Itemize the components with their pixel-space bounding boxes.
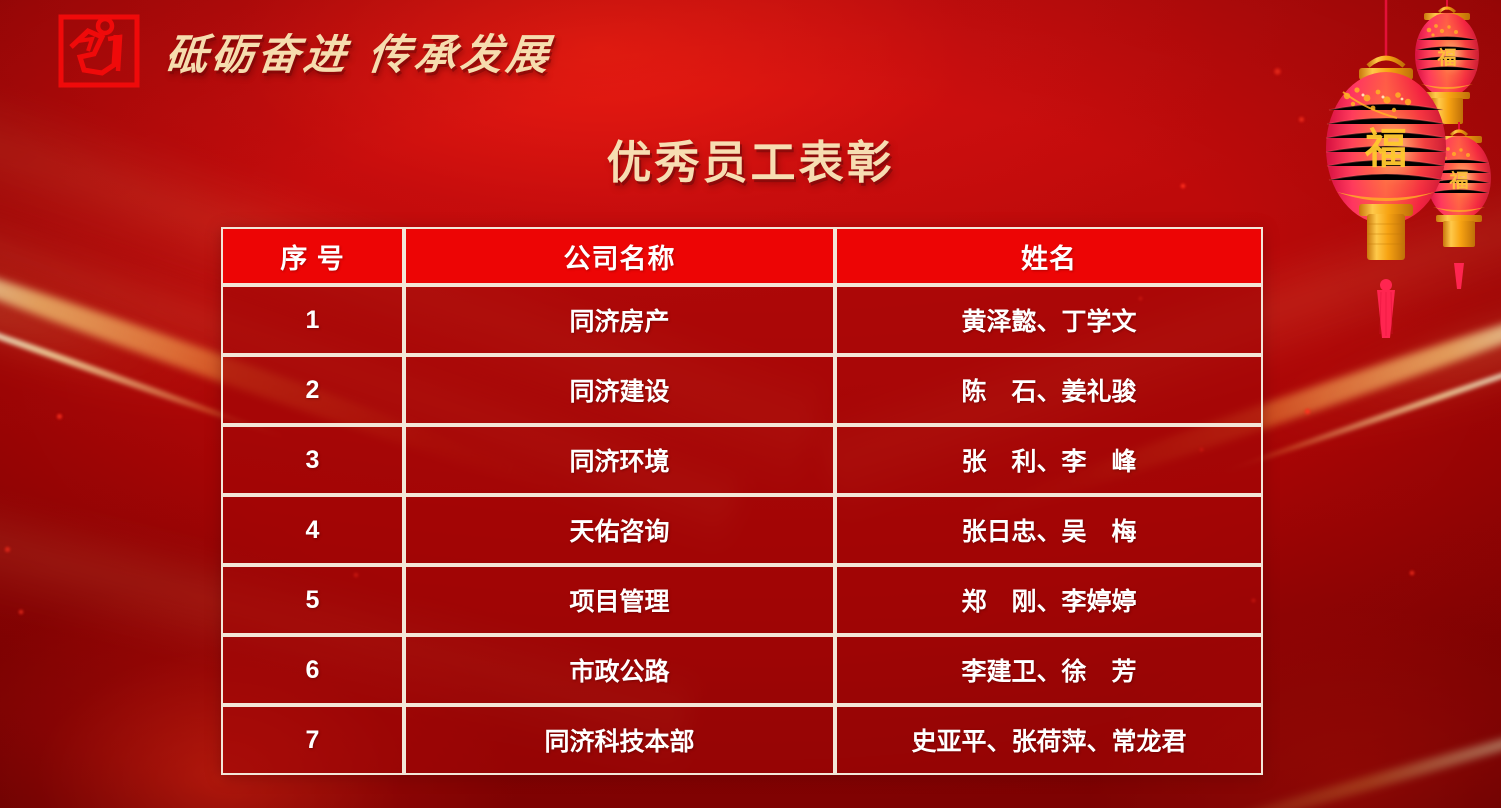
- table-body: 1 同济房产 黄泽懿、丁学文 2 同济建设 陈 石、姜礼骏 3 同济环境 张 利…: [221, 285, 1263, 775]
- table-row: 6 市政公路 李建卫、徐 芳: [221, 635, 1263, 705]
- table-row: 5 项目管理 郑 刚、李婷婷: [221, 565, 1263, 635]
- cell-index: 4: [221, 495, 404, 565]
- cell-index: 5: [221, 565, 404, 635]
- table-row: 7 同济科技本部 史亚平、张荷萍、常龙君: [221, 705, 1263, 775]
- table-header-row: 序 号 公司名称 姓名: [221, 227, 1263, 285]
- cell-names: 黄泽懿、丁学文: [835, 285, 1263, 355]
- cell-company: 天佑咨询: [404, 495, 835, 565]
- cell-company: 同济科技本部: [404, 705, 835, 775]
- cell-company: 市政公路: [404, 635, 835, 705]
- cell-names: 陈 石、姜礼骏: [835, 355, 1263, 425]
- column-header-name: 姓名: [835, 227, 1263, 285]
- cell-company: 同济环境: [404, 425, 835, 495]
- column-header-index: 序 号: [221, 227, 404, 285]
- cell-company: 同济房产: [404, 285, 835, 355]
- cell-index: 3: [221, 425, 404, 495]
- cell-names: 史亚平、张荷萍、常龙君: [835, 705, 1263, 775]
- page-title: 优秀员工表彰: [0, 126, 1501, 191]
- brand-slogan: 砥砺奋进 传承发展: [163, 21, 556, 82]
- column-header-company: 公司名称: [404, 227, 835, 285]
- slide-header: 砥砺奋进 传承发展: [58, 13, 553, 89]
- cell-index: 2: [221, 355, 404, 425]
- cell-company: 同济建设: [404, 355, 835, 425]
- table-row: 3 同济环境 张 利、李 峰: [221, 425, 1263, 495]
- slide-canvas: 福 福: [0, 0, 1501, 808]
- cell-index: 7: [221, 705, 404, 775]
- cell-names: 张日忠、吴 梅: [835, 495, 1263, 565]
- cell-names: 张 利、李 峰: [835, 425, 1263, 495]
- cell-company: 项目管理: [404, 565, 835, 635]
- cell-names: 郑 刚、李婷婷: [835, 565, 1263, 635]
- cell-index: 6: [221, 635, 404, 705]
- cell-names: 李建卫、徐 芳: [835, 635, 1263, 705]
- table-row: 1 同济房产 黄泽懿、丁学文: [221, 285, 1263, 355]
- award-table: 序 号 公司名称 姓名 1 同济房产 黄泽懿、丁学文 2 同济建设 陈 石、姜礼…: [221, 227, 1263, 775]
- table-row: 4 天佑咨询 张日忠、吴 梅: [221, 495, 1263, 565]
- table-row: 2 同济建设 陈 石、姜礼骏: [221, 355, 1263, 425]
- tongji-logo-icon: [58, 13, 140, 89]
- cell-index: 1: [221, 285, 404, 355]
